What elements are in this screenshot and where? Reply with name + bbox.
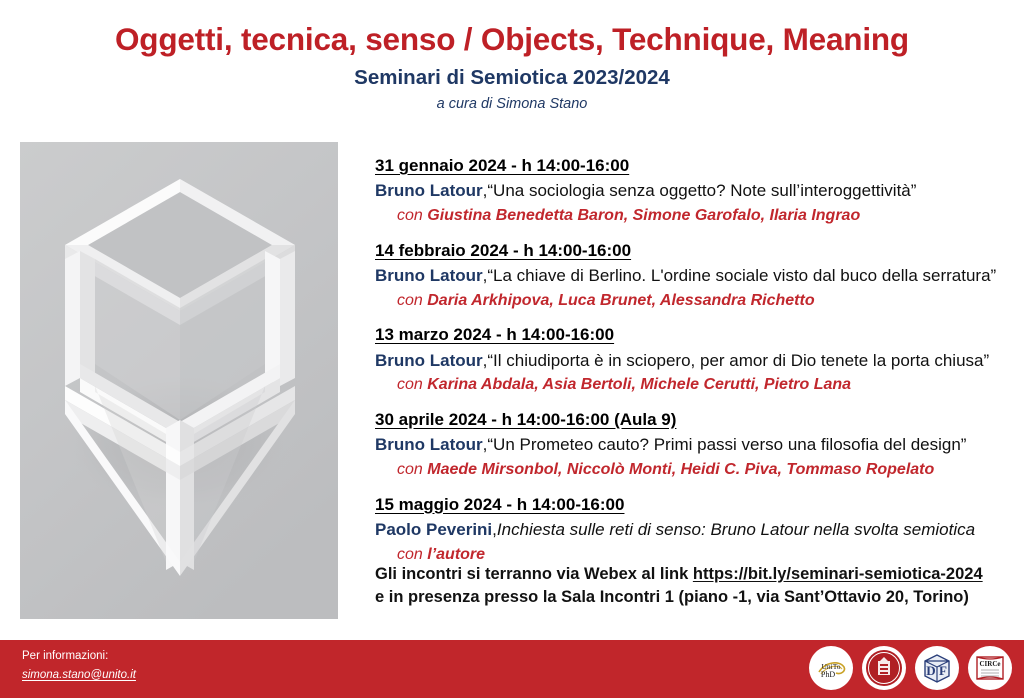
entry-main-line: Paolo Peverini,Inchiesta sulle reti di s… [375, 519, 1007, 542]
entry-with-word: con [397, 376, 427, 393]
entry-speaker: Bruno Latour [375, 351, 483, 370]
entry-with-word: con [397, 292, 427, 309]
entry-with-names: l’autore [427, 546, 485, 563]
footer-contact-info: Per informazioni: simona.stano@unito.it [22, 649, 136, 683]
entry-with-names: Daria Arkhipova, Luca Brunet, Alessandra… [427, 292, 814, 309]
footer-logos: UniTo PhD D F [809, 646, 1012, 690]
entry-speaker: Bruno Latour [375, 266, 483, 285]
footer-info-label: Per informazioni: [22, 649, 136, 665]
university-seal-logo [862, 646, 906, 690]
contact-email-link[interactable]: simona.stano@unito.it [22, 668, 136, 684]
entry-main-line: Bruno Latour,“La chiave di Berlino. L'or… [375, 265, 1007, 288]
entry-with-names: Karina Abdala, Asia Bertoli, Michele Cer… [427, 376, 851, 393]
entry-talk-title: “La chiave di Berlino. L'ordine sociale … [487, 266, 996, 285]
poster-subtitle: Seminari di Semiotica 2023/2024 [0, 66, 1024, 90]
program-entry: 31 gennaio 2024 - h 14:00-16:00 Bruno La… [375, 155, 1007, 227]
svg-text:PhD: PhD [821, 670, 835, 679]
entry-with-word: con [397, 207, 427, 224]
entry-talk-title: Inchiesta sulle reti di senso: Bruno Lat… [497, 520, 975, 539]
entry-participants: con Maede Mirsonbol, Niccolò Monti, Heid… [375, 459, 1007, 480]
poster-footer: Per informazioni: simona.stano@unito.it … [0, 640, 1024, 698]
poster-curator: a cura di Simona Stano [0, 96, 1024, 113]
entry-main-line: Bruno Latour,“Una sociologia senza ogget… [375, 180, 1007, 203]
entry-date: 31 gennaio 2024 - h 14:00-16:00 [375, 155, 629, 177]
svg-text:CIRCe: CIRCe [980, 660, 1001, 668]
entry-main-line: Bruno Latour,“Il chiudiporta è in sciope… [375, 350, 1007, 373]
entry-with-word: con [397, 461, 427, 478]
program-entry: 14 febbraio 2024 - h 14:00-16:00 Bruno L… [375, 240, 1007, 312]
venue-webex-text: Gli incontri si terranno via Webex al li… [375, 565, 693, 583]
df-cube-logo: D F [915, 646, 959, 690]
entry-talk-title: “Un Prometeo cauto? Primi passi verso un… [487, 435, 966, 454]
entry-participants: con Daria Arkhipova, Luca Brunet, Alessa… [375, 290, 1007, 311]
entry-date: 15 maggio 2024 - h 14:00-16:00 [375, 494, 624, 516]
program-entry: 30 aprile 2024 - h 14:00-16:00 (Aula 9) … [375, 409, 1007, 481]
entry-date: 13 marzo 2024 - h 14:00-16:00 [375, 324, 614, 346]
poster-header: Oggetti, tecnica, senso / Objects, Techn… [0, 0, 1024, 113]
venue-line-address: e in presenza presso la Sala Incontri 1 … [375, 586, 1015, 609]
entry-participants: con Giustina Benedetta Baron, Simone Gar… [375, 205, 1007, 226]
entry-speaker: Paolo Peverini [375, 520, 492, 539]
svg-text:F: F [939, 663, 947, 678]
program-entry: 15 maggio 2024 - h 14:00-16:00 Paolo Pev… [375, 494, 1007, 566]
svg-text:D: D [926, 663, 935, 678]
impossible-cube-illustration [20, 142, 338, 619]
circe-logo: CIRCe [968, 646, 1012, 690]
entry-talk-title: “Il chiudiporta è in sciopero, per amor … [487, 351, 989, 370]
entry-with-names: Giustina Benedetta Baron, Simone Garofal… [427, 207, 860, 224]
entry-talk-title: “Una sociologia senza oggetto? Note sull… [487, 181, 916, 200]
page-title: Oggetti, tecnica, senso / Objects, Techn… [0, 22, 1024, 57]
entry-main-line: Bruno Latour,“Un Prometeo cauto? Primi p… [375, 434, 1007, 457]
entry-date: 30 aprile 2024 - h 14:00-16:00 (Aula 9) [375, 409, 676, 431]
venue-line-webex: Gli incontri si terranno via Webex al li… [375, 563, 1015, 586]
venue-information: Gli incontri si terranno via Webex al li… [375, 563, 1015, 610]
entry-with-names: Maede Mirsonbol, Niccolò Monti, Heidi C.… [427, 461, 934, 478]
entry-speaker: Bruno Latour [375, 435, 483, 454]
entry-participants: con Karina Abdala, Asia Bertoli, Michele… [375, 374, 1007, 395]
webex-link[interactable]: https://bit.ly/seminari-semiotica-2024 [693, 565, 983, 583]
entry-with-word: con [397, 546, 427, 563]
entry-date: 14 febbraio 2024 - h 14:00-16:00 [375, 240, 631, 262]
unito-phd-logo: UniTo PhD [809, 646, 853, 690]
entry-speaker: Bruno Latour [375, 181, 483, 200]
program-entry: 13 marzo 2024 - h 14:00-16:00 Bruno Lato… [375, 324, 1007, 396]
seminar-program-list: 31 gennaio 2024 - h 14:00-16:00 Bruno La… [375, 155, 1007, 565]
entry-participants: con l’autore [375, 544, 1007, 565]
